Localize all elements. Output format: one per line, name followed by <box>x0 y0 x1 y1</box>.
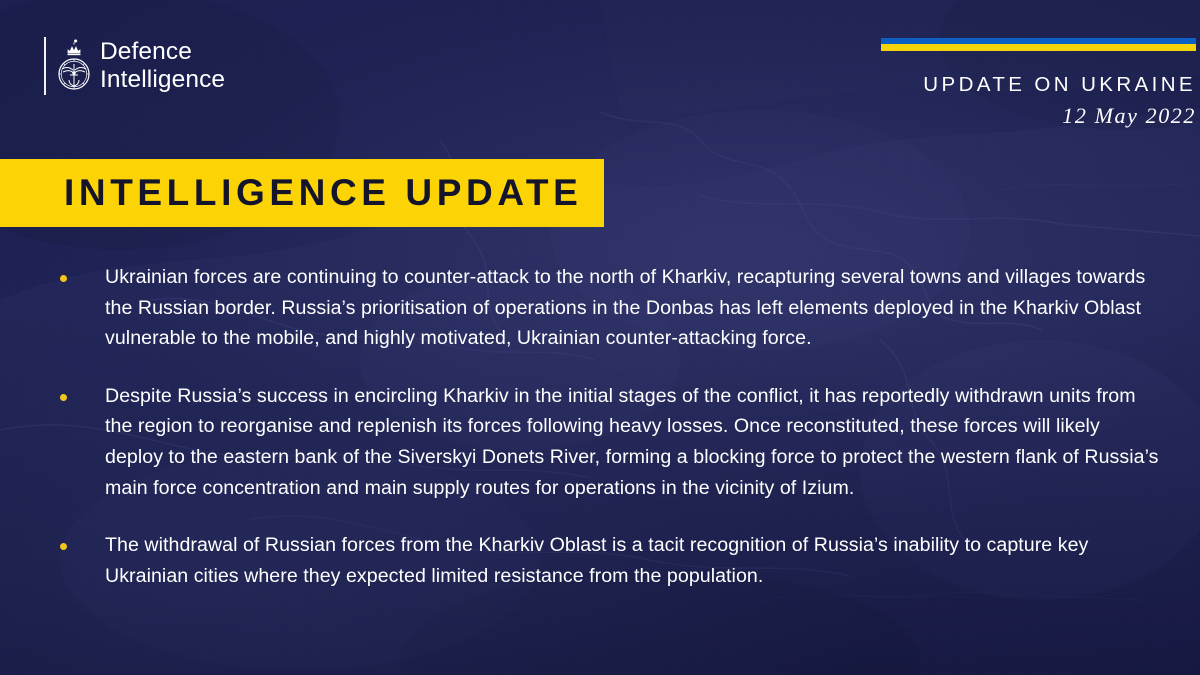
bullet-text: Ukrainian forces are continuing to count… <box>105 262 1160 354</box>
list-item: Despite Russia’s success in encircling K… <box>60 381 1160 503</box>
update-date: 12 May 2022 <box>4 103 1196 129</box>
intelligence-update-banner: INTELLIGENCE UPDATE <box>0 159 604 227</box>
bullet-dot-icon <box>60 543 67 550</box>
intelligence-update-poster: Defence Intelligence UPDATE ON UKRAINE 1… <box>0 0 1200 675</box>
list-item: The withdrawal of Russian forces from th… <box>60 530 1160 591</box>
bullet-dot-icon <box>60 394 67 401</box>
list-item: Ukrainian forces are continuing to count… <box>60 262 1160 354</box>
ukraine-flag-bar-icon <box>881 38 1196 51</box>
bullet-dot-icon <box>60 275 67 282</box>
bullet-text: Despite Russia’s success in encircling K… <box>105 381 1160 503</box>
bullet-text: The withdrawal of Russian forces from th… <box>105 530 1160 591</box>
logo-line-defence: Defence <box>100 38 225 66</box>
bullet-list: Ukrainian forces are continuing to count… <box>60 262 1160 591</box>
flag-stripe-yellow <box>881 44 1196 51</box>
banner-title: INTELLIGENCE UPDATE <box>64 172 582 214</box>
update-on-ukraine-label: UPDATE ON UKRAINE <box>4 73 1196 97</box>
